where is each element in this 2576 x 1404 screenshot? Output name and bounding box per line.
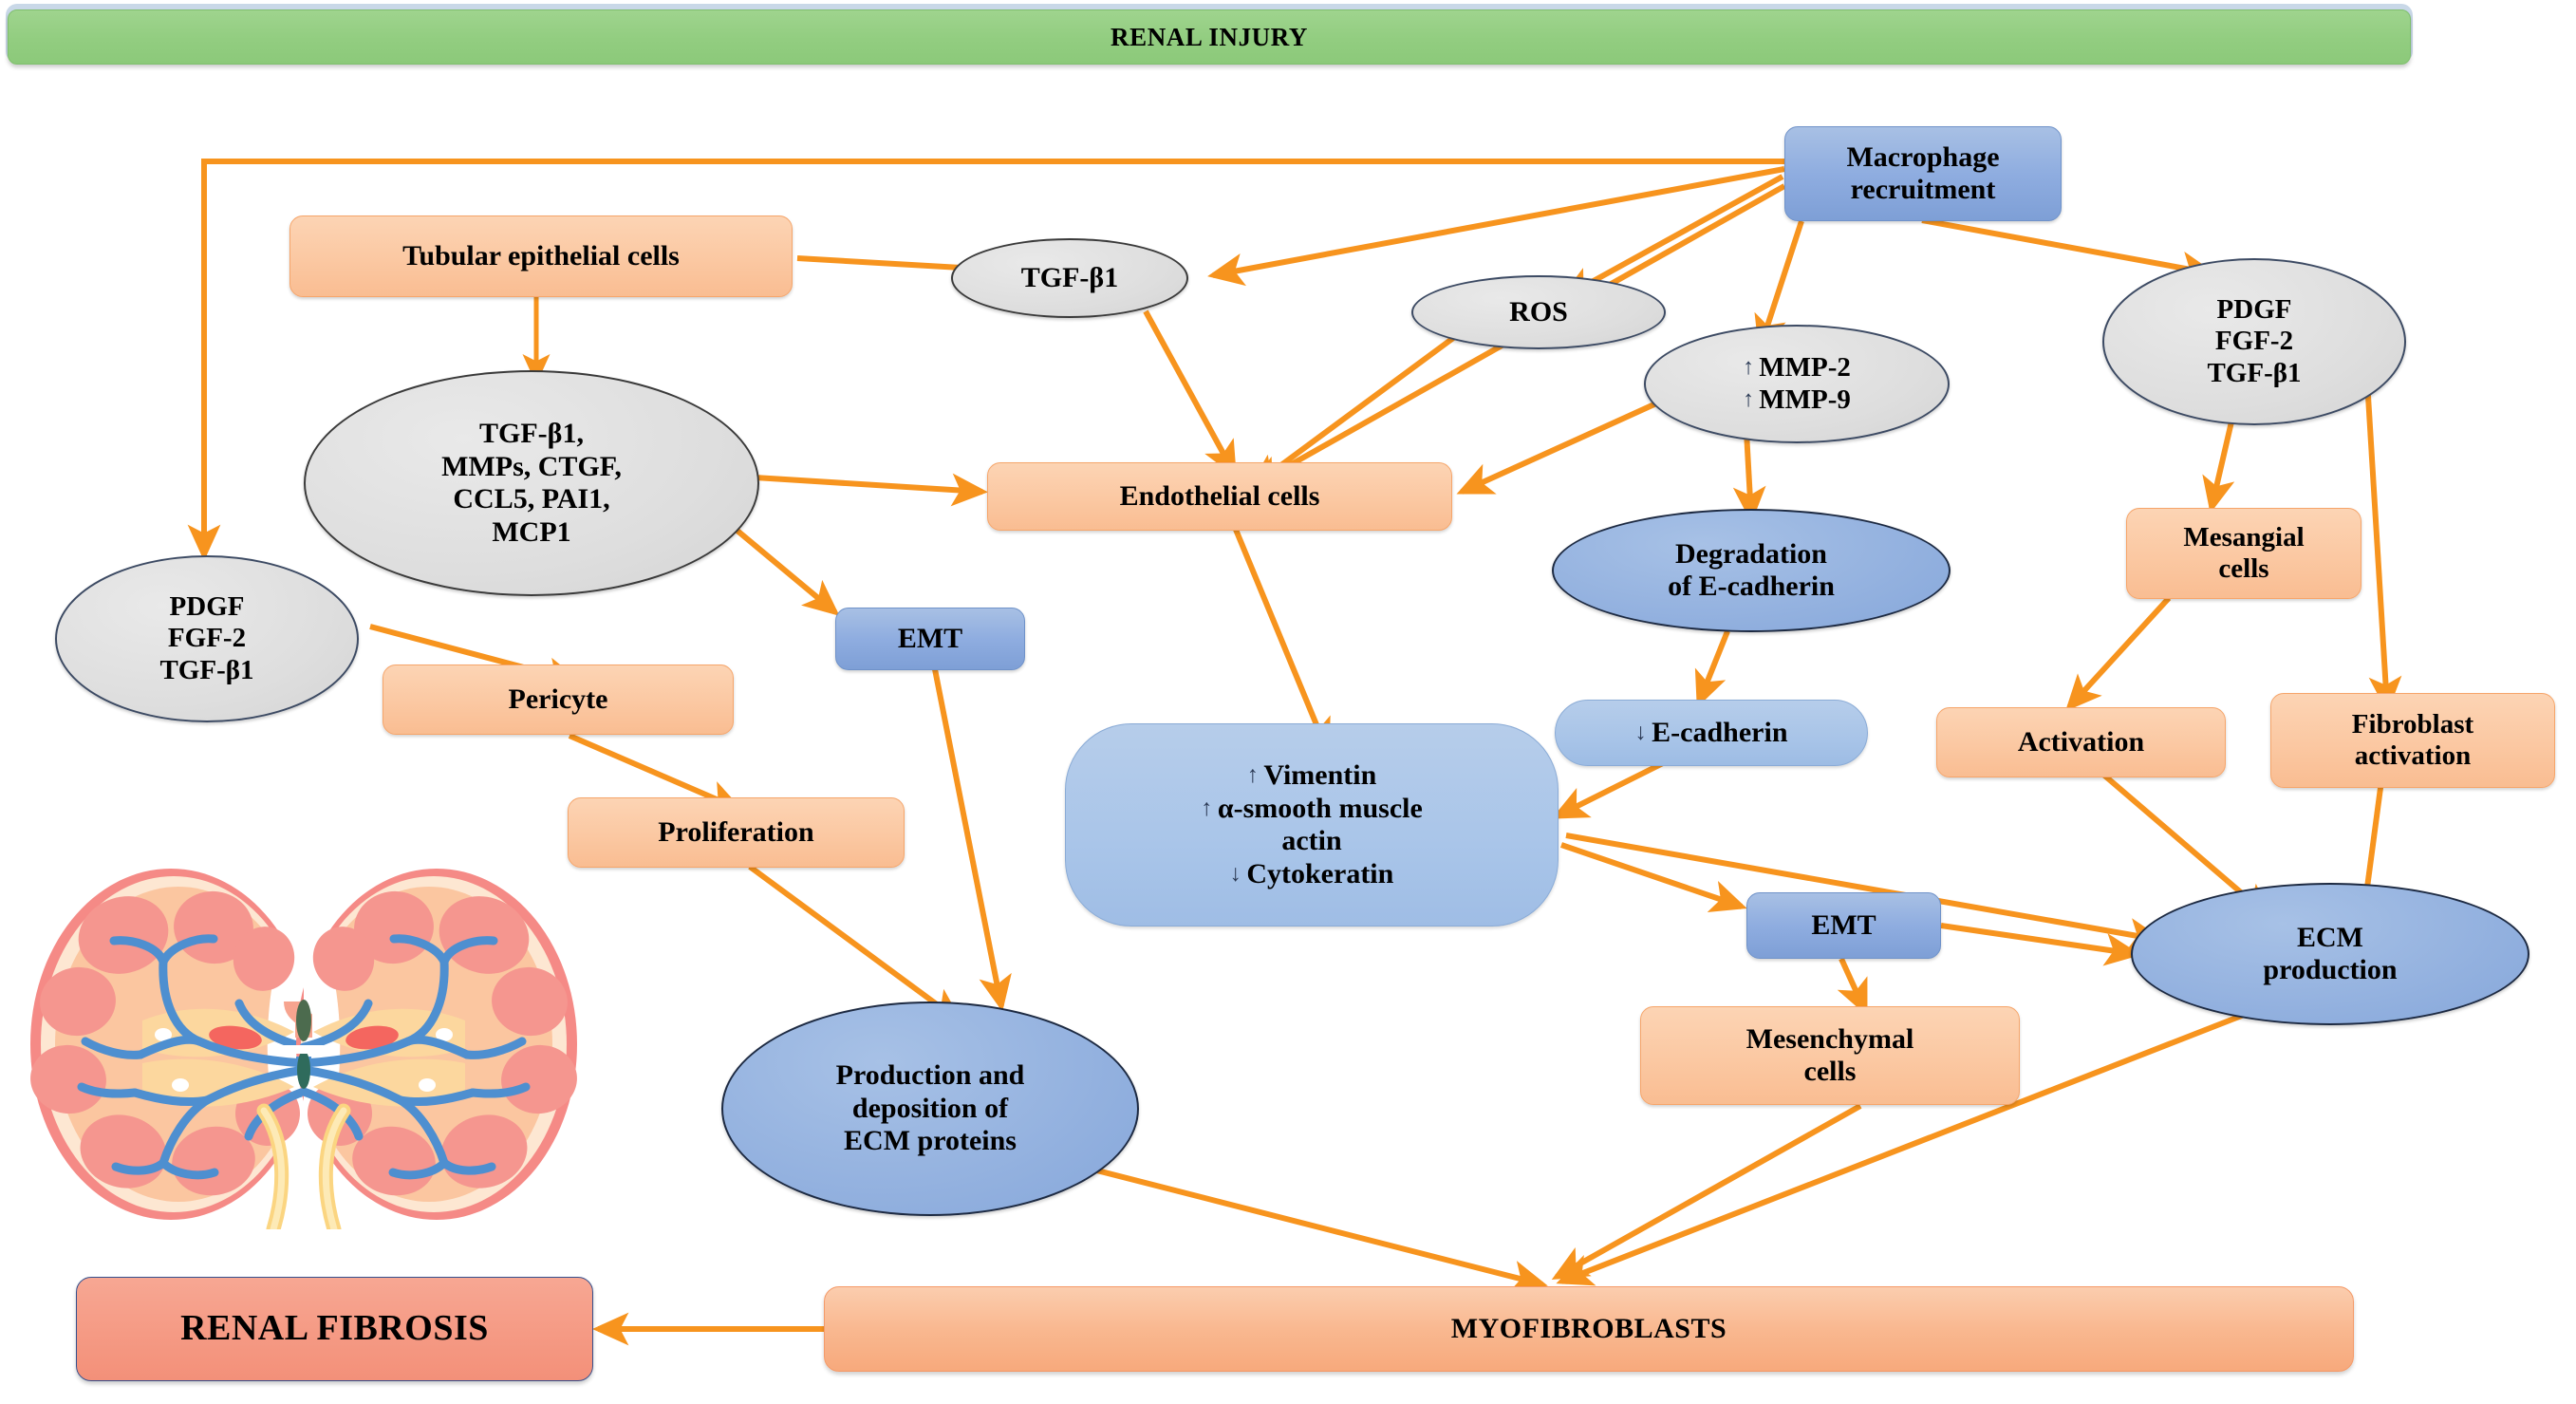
node-mesangial-cells[interactable]: Mesangialcells	[2126, 508, 2361, 599]
node-mediators[interactable]: TGF-β1, MMPs, CTGF, CCL5, PAI1, MCP1	[304, 370, 759, 596]
node-pericyte[interactable]: Pericyte	[383, 665, 734, 735]
edge-mediators-to-endothelial	[755, 477, 982, 492]
node-label: Tubular epithelial cells	[402, 240, 680, 273]
node-label: MMP-2	[1759, 352, 1851, 384]
node-emt-right[interactable]: EMT	[1746, 892, 1941, 959]
node-label: Proliferation	[658, 816, 813, 850]
mmp2-row: ↑ MMP-2	[1743, 352, 1851, 384]
node-fibroblast-activation[interactable]: Fibroblastactivation	[2270, 693, 2555, 788]
node-label: Degradationof E-cadherin	[1668, 538, 1835, 604]
node-label: TGF-β1	[1021, 262, 1118, 295]
node-label: TGF-β1	[159, 655, 253, 686]
kidney-illustration	[19, 859, 588, 1229]
asma-row: ↑ α-smooth muscle	[1201, 793, 1423, 826]
cytokeratin-row: ↓ Cytokeratin	[1230, 858, 1394, 891]
edge-emt-left-to-production	[935, 669, 1001, 1006]
edge-macrophage-to-pdgf-right	[1922, 220, 2212, 273]
edge-mediators-to-emt-left	[721, 517, 835, 612]
node-label: PDGF	[2217, 294, 2292, 326]
node-label: Fibroblastactivation	[2352, 709, 2473, 773]
node-label: Pericyte	[509, 683, 608, 717]
up-arrow-icon: ↑	[1247, 762, 1259, 789]
node-pdgf-fgf2-tgfb1-left[interactable]: PDGF FGF-2 TGF-β1	[55, 555, 359, 722]
node-label: α-smooth muscle	[1218, 793, 1423, 826]
node-label: MMP-9	[1759, 384, 1851, 416]
edge-pdgf-right-to-fibroblast	[2365, 349, 2387, 707]
node-label: MCP1	[492, 516, 570, 550]
node-emt-left[interactable]: EMT	[835, 608, 1025, 670]
node-mmp-upregulation[interactable]: ↑ MMP-2 ↑ MMP-9	[1644, 325, 1950, 443]
node-label: TGF-β1,	[479, 418, 584, 451]
node-proliferation[interactable]: Proliferation	[568, 797, 905, 868]
edge-endothelial-to-markers	[1234, 525, 1327, 750]
node-label: EMT	[898, 623, 962, 656]
edge-proliferation-to-production	[750, 867, 959, 1020]
up-arrow-icon: ↑	[1201, 796, 1212, 822]
up-arrow-icon: ↑	[1743, 387, 1754, 413]
node-mesenchymal-cells[interactable]: Mesenchymalcells	[1640, 1006, 2020, 1105]
down-arrow-icon: ↓	[1634, 720, 1646, 746]
edge-markers-to-emt-right	[1561, 845, 1742, 907]
node-label: actin	[1281, 825, 1341, 858]
node-label: MYOFIBROBLASTS	[1451, 1313, 1727, 1346]
node-label: PDGF	[170, 591, 245, 623]
node-label: MMPs, CTGF,	[441, 451, 622, 484]
edge-mesangial-to-activation	[2069, 598, 2169, 707]
node-label: Cytokeratin	[1246, 858, 1393, 891]
edge-emt-right-to-ecm	[1941, 926, 2136, 954]
node-pdgf-fgf2-tgfb1-right[interactable]: PDGF FGF-2 TGF-β1	[2102, 258, 2406, 425]
node-label: FGF-2	[2215, 326, 2293, 357]
node-ros[interactable]: ROS	[1411, 275, 1666, 349]
edge-mmp-to-degradation	[1746, 432, 1751, 517]
edge-tgfb1-to-endothelial	[1146, 311, 1234, 473]
node-label: Endothelial cells	[1120, 480, 1320, 514]
node-label: E-cadherin	[1652, 717, 1787, 750]
node-label: Vimentin	[1263, 759, 1376, 793]
edge-production-to-myofibroblasts	[1049, 1158, 1542, 1284]
node-label: Production anddeposition ofECM proteins	[836, 1059, 1025, 1158]
node-label: TGF-β1	[2207, 358, 2301, 389]
edge-ecadherin-to-markers	[1557, 759, 1671, 816]
node-label: CCL5, PAI1,	[453, 483, 609, 516]
node-label: Mesenchymalcells	[1746, 1023, 1914, 1089]
node-tubular-epithelial-cells[interactable]: Tubular epithelial cells	[289, 215, 793, 297]
node-tgfb1-top[interactable]: TGF-β1	[951, 238, 1188, 318]
node-endothelial-cells[interactable]: Endothelial cells	[987, 462, 1452, 531]
node-label: RENAL FIBROSIS	[180, 1308, 489, 1350]
ecadherin-row: ↓ E-cadherin	[1634, 717, 1787, 750]
edge-degradation-to-ecadherin	[1699, 631, 1727, 702]
vimentin-row: ↑ Vimentin	[1247, 759, 1377, 793]
node-label: Activation	[2018, 726, 2144, 759]
node-activation[interactable]: Activation	[1936, 707, 2226, 777]
edge-emt-right-to-mesenchymal	[1841, 959, 1865, 1011]
node-label: FGF-2	[168, 623, 246, 654]
diagram-canvas: RENAL INJURY .e{stroke:#f7941e;stroke-wi…	[0, 0, 2576, 1404]
renal-injury-banner: RENAL INJURY	[8, 9, 2411, 65]
edge-mmp-to-endothelial	[1462, 403, 1656, 492]
node-ecm-production[interactable]: ECMproduction	[2131, 883, 2529, 1025]
edge-pdgf-right-to-mesangial	[2212, 418, 2232, 508]
edge-mesenchymal-to-myofibroblasts	[1557, 1106, 1860, 1277]
node-production-deposition-ecm[interactable]: Production anddeposition ofECM proteins	[721, 1002, 1139, 1216]
node-emt-markers[interactable]: ↑ Vimentin ↑ α-smooth muscle actin ↓ Cyt…	[1065, 723, 1559, 927]
node-label: ROS	[1509, 296, 1568, 329]
node-label: ECMproduction	[2263, 922, 2397, 987]
node-e-cadherin-down[interactable]: ↓ E-cadherin	[1555, 700, 1868, 766]
node-label: Mesangialcells	[2183, 522, 2304, 586]
up-arrow-icon: ↑	[1743, 355, 1754, 381]
down-arrow-icon: ↓	[1230, 861, 1241, 888]
node-label: Macrophagerecruitment	[1846, 141, 1999, 207]
node-label: EMT	[1811, 909, 1876, 943]
edge-macrophage-to-tgfb1	[1213, 169, 1784, 275]
node-renal-fibrosis[interactable]: RENAL FIBROSIS	[76, 1277, 593, 1381]
node-myofibroblasts[interactable]: MYOFIBROBLASTS	[824, 1286, 2354, 1372]
node-degradation-of-e-cadherin[interactable]: Degradationof E-cadherin	[1552, 509, 1951, 632]
node-macrophage-recruitment[interactable]: Macrophagerecruitment	[1784, 126, 2062, 221]
mmp9-row: ↑ MMP-9	[1743, 384, 1851, 416]
